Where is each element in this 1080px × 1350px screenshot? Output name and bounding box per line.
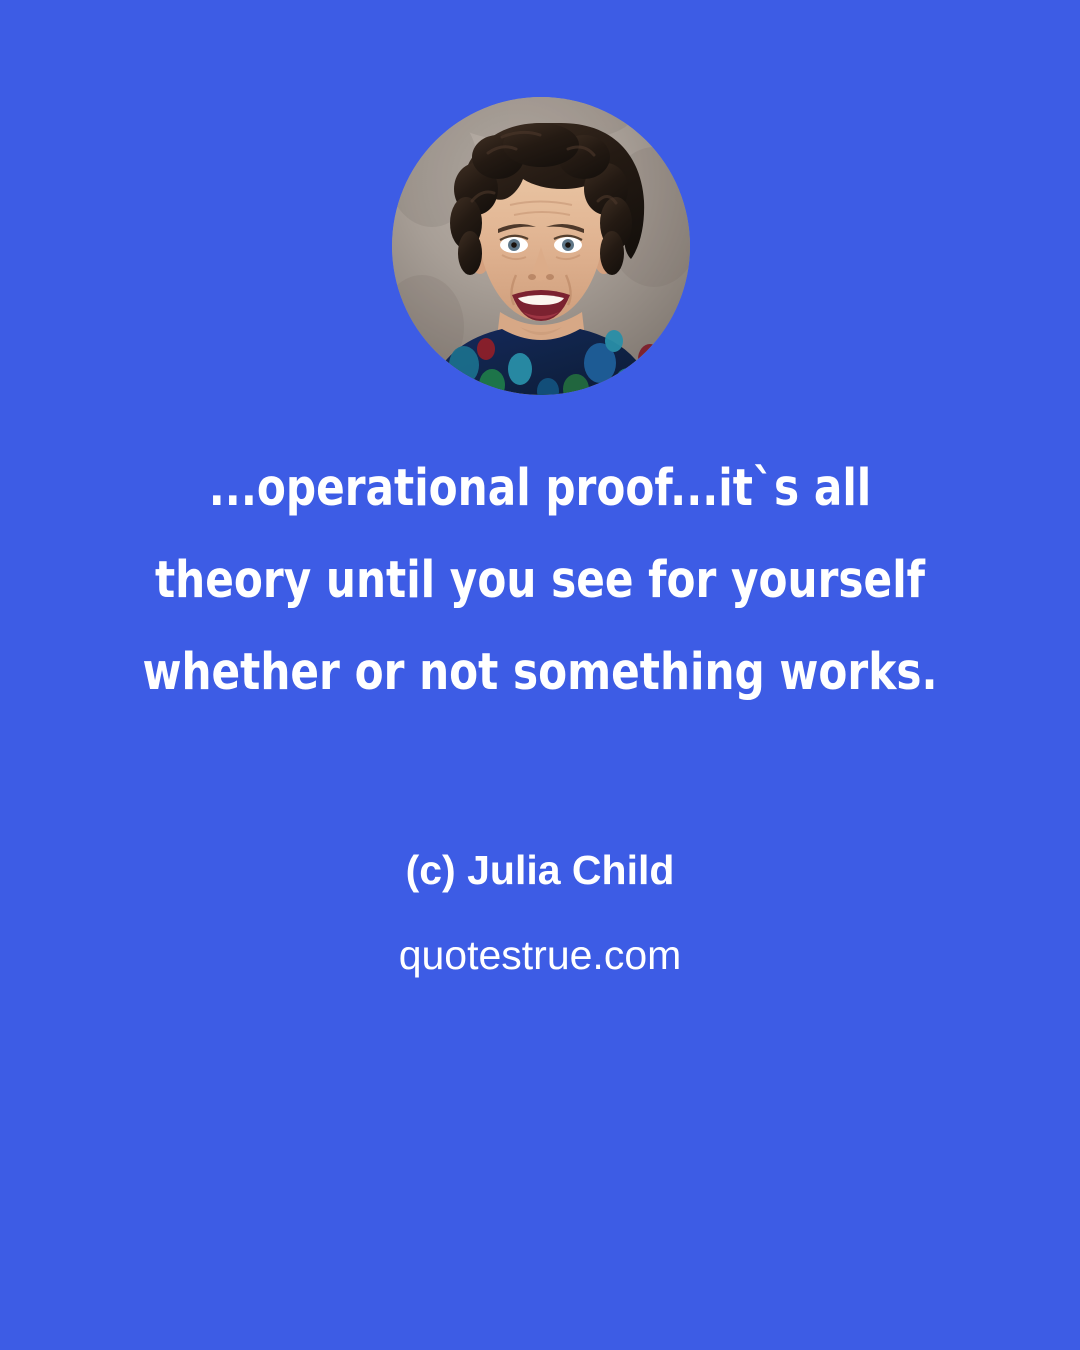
- quote-card: ...operational proof...it`s all theory u…: [0, 0, 1080, 1350]
- quote-line-1: ...operational proof...it`s all: [117, 443, 963, 535]
- quote-text: ...operational proof...it`s all theory u…: [43, 443, 1037, 719]
- portrait-image: [392, 97, 690, 395]
- portrait-illustration: [392, 97, 690, 395]
- quote-attribution: (c) Julia Child: [0, 845, 1080, 895]
- quote-line-2: theory until you see for yourself: [117, 535, 963, 627]
- site-watermark: quotestrue.com: [0, 930, 1080, 980]
- quote-line-3: whether or not something works.: [117, 627, 963, 719]
- author-portrait: [392, 97, 690, 395]
